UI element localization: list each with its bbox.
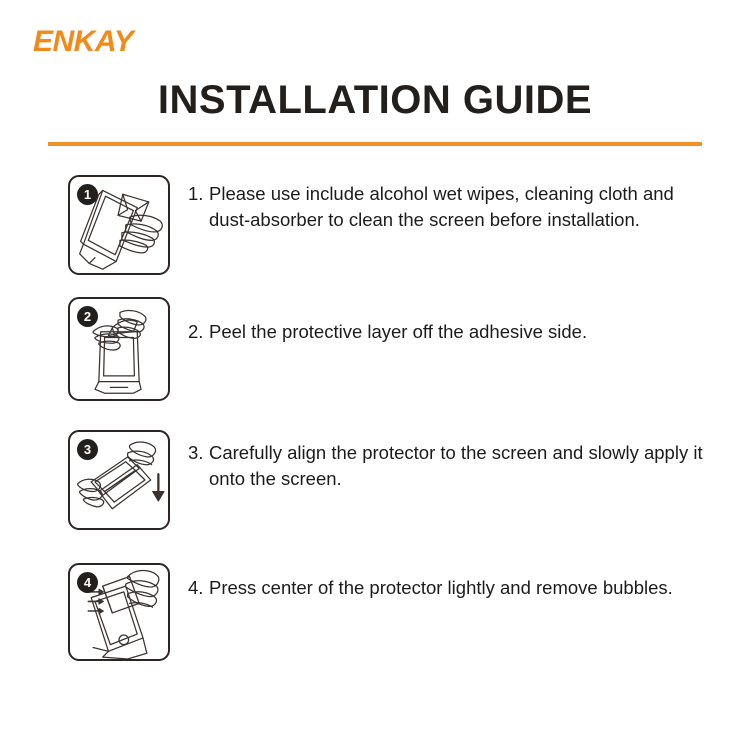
step-description: Peel the protective layer off the adhesi… (188, 319, 587, 345)
step-illustration-box: 1 (68, 175, 170, 275)
step-item: 1 (0, 175, 750, 297)
step-text: 4. Press center of the protector lightly… (188, 563, 673, 601)
step-number: 1. (188, 181, 203, 207)
header-divider (48, 142, 702, 146)
step-number: 3. (188, 440, 203, 466)
step-text: 3. Carefully align the protector to the … (188, 430, 708, 493)
step-number: 4. (188, 575, 203, 601)
step-description: Press center of the protector lightly an… (188, 575, 673, 601)
enkay-logo: ENKAY (33, 27, 133, 57)
step-illustration-box: 3 (68, 430, 170, 530)
installation-guide-page: ENKAY INSTALLATION GUIDE 1 (0, 0, 750, 750)
step-illustration-box: 2 (68, 297, 170, 401)
step-description: Carefully align the protector to the scr… (188, 440, 708, 493)
step-item: 3 (0, 430, 750, 563)
step-text: 1. Please use include alcohol wet wipes,… (188, 175, 698, 234)
step-badge: 3 (77, 439, 98, 460)
step-text: 2. Peel the protective layer off the adh… (188, 297, 587, 345)
step-item: 2 (0, 297, 750, 430)
step-illustration-box: 4 (68, 563, 170, 661)
step-description: Please use include alcohol wet wipes, cl… (188, 181, 698, 234)
steps-list: 1 (0, 175, 750, 683)
page-title: INSTALLATION GUIDE (0, 78, 750, 123)
step-item: 4 (0, 563, 750, 683)
step-badge: 2 (77, 306, 98, 327)
step-badge: 1 (77, 184, 98, 205)
step-badge: 4 (77, 572, 98, 593)
step-number: 2. (188, 319, 203, 345)
